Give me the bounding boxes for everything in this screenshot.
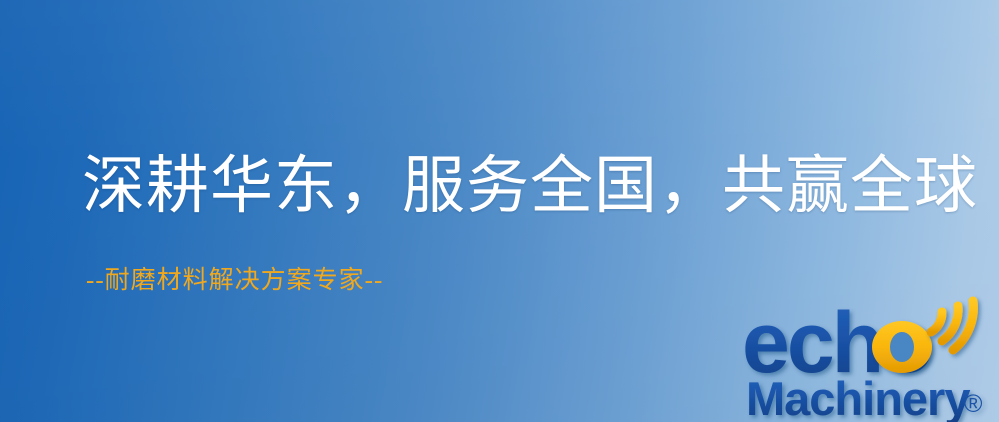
hero-banner: 深耕华东，服务全国，共赢全球 --耐磨材料解决方案专家-- bbox=[0, 0, 999, 422]
echo-wave-arc-1 bbox=[931, 312, 942, 332]
echo-machinery-logo[interactable]: echo Machinery ® bbox=[742, 296, 999, 422]
banner-headline: 深耕华东，服务全国，共赢全球 bbox=[82, 152, 978, 220]
logo-tagline-machinery: Machinery bbox=[746, 372, 970, 422]
logo-trademark-symbol: ® bbox=[964, 390, 983, 418]
logo-tagline-group: Machinery ® bbox=[746, 372, 983, 422]
banner-subheadline: --耐磨材料解决方案专家-- bbox=[86, 266, 383, 296]
logo-o-counter bbox=[890, 332, 914, 362]
echo-wave-arcs-icon bbox=[931, 301, 973, 350]
logo-o-ring bbox=[872, 321, 932, 373]
